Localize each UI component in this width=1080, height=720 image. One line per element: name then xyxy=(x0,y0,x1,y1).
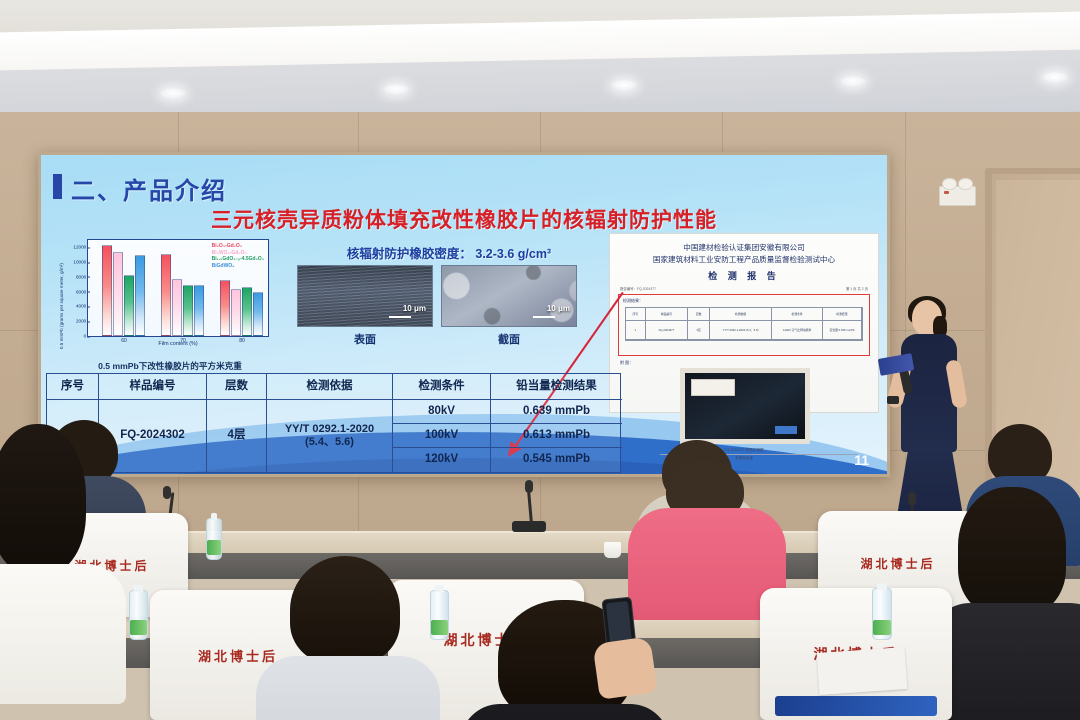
table-header-cell: 检测条件 xyxy=(393,374,491,400)
chart-y-tick: 6000 xyxy=(76,289,86,294)
chart-legend: Bi₂O₃-Gd₂O₃ Bi₂WO₆-Gd₂O₃ Bi₁.₅GdO₃₋ₓ-4.5… xyxy=(212,243,264,269)
micrograph-label-cross-section: 截面 xyxy=(441,331,577,347)
downlight-icon xyxy=(160,88,186,99)
report-th: 层数 xyxy=(688,308,709,321)
person-body xyxy=(0,564,126,704)
heading-accent-bar xyxy=(53,174,62,199)
bar-s3-60 xyxy=(124,275,134,336)
bar-group-60 xyxy=(102,245,145,336)
bar-s4-70 xyxy=(194,285,204,336)
scale-bar-label: 10 μm xyxy=(547,304,570,313)
legend-item-3: Bi₁.₅GdO₃₋ₓ-4.5Gd₂O₃ xyxy=(212,256,264,263)
chart-y-tick: 10000 xyxy=(73,260,86,265)
slide-page-number: 11 xyxy=(854,452,869,468)
documents xyxy=(817,647,908,695)
legend-item-4: BiGdWO₆ xyxy=(212,263,264,270)
desk-microphone-head xyxy=(525,480,533,493)
chart-y-tick: 0 xyxy=(84,334,87,339)
table-header-cell: 样品编号 xyxy=(99,374,207,400)
person-body xyxy=(930,603,1080,720)
report-note-label: 附 图： xyxy=(620,360,633,366)
downlight-icon xyxy=(1042,72,1068,83)
report-highlight-box: 检测结果： 序号 样品编号 层数 检测依据 检测条件 检测结果 1 FQ-202… xyxy=(618,294,870,356)
slide-canvas: 二、产品介绍 三元核壳异质粉体填充改性橡胶片的核辐射防护性能 0.5 mmPb … xyxy=(41,155,887,474)
bar-group-70 xyxy=(161,254,204,336)
bar-s4-80 xyxy=(253,292,263,336)
table-header-cell: 序号 xyxy=(47,374,99,400)
table-cell-condition: 120kV xyxy=(393,448,491,472)
table-cell-result: 0.639 mmPb xyxy=(491,400,622,424)
projection-screen: 二、产品介绍 三元核壳异质粉体填充改性橡胶片的核辐射防护性能 0.5 mmPb … xyxy=(38,152,890,477)
downlight-icon xyxy=(611,80,637,91)
bar-group-80 xyxy=(220,280,263,336)
micrograph-surface: 10 μm xyxy=(297,265,433,327)
report-result-table: 序号 样品编号 层数 检测依据 检测条件 检测结果 1 FQ-2024377 4… xyxy=(625,307,863,341)
report-th: 样品编号 xyxy=(646,308,689,321)
chart-y-tick: 12000 xyxy=(73,245,86,250)
report-org-line-2: 国家建筑材料工业安防工程产品质量监督检验测试中心 xyxy=(610,254,878,265)
report-meta-right: 第 1 页 共 2 页 xyxy=(846,286,868,291)
report-th: 检测条件 xyxy=(772,308,823,321)
raised-hand xyxy=(592,636,657,700)
scale-bar-icon xyxy=(533,316,555,318)
person-head xyxy=(958,487,1066,615)
report-photo-tag xyxy=(691,379,735,396)
report-title: 检 测 报 告 xyxy=(610,269,878,282)
report-photo-marker xyxy=(775,426,797,434)
report-th: 检测依据 xyxy=(710,308,772,321)
bar-s2-70 xyxy=(172,279,182,336)
bar-s2-80 xyxy=(231,289,241,336)
downlight-icon xyxy=(840,76,866,87)
emergency-light-icon xyxy=(939,186,976,206)
chair-banner xyxy=(775,696,936,716)
report-section-label: 检测结果： xyxy=(623,298,643,304)
bar-s4-60 xyxy=(135,255,145,336)
chart-x-axis-label: Film content (%) xyxy=(87,341,269,347)
chair-label: 湖北博士后 xyxy=(818,555,978,572)
bar-s1-70 xyxy=(161,254,171,336)
presenter-clicker xyxy=(887,396,899,404)
bar-s1-60 xyxy=(102,245,112,336)
bar-s1-80 xyxy=(220,280,230,336)
table-header-cell: 检测依据 xyxy=(267,374,393,400)
bar-s3-80 xyxy=(242,287,252,336)
person-body xyxy=(460,704,670,720)
water-bottle xyxy=(206,518,222,560)
micrograph-cross-section: 10 μm xyxy=(441,265,577,327)
report-org-line-1: 中国建材检验认证集团安徽有限公司 xyxy=(610,242,878,253)
report-sample-photo xyxy=(680,368,810,444)
desk-microphone-head xyxy=(908,492,916,505)
water-bottle xyxy=(430,590,449,640)
slide-section-heading: 二、产品介绍 xyxy=(71,171,227,206)
bar-s2-60 xyxy=(113,252,123,336)
chart-y-axis-label: 0.5 mmPb (grams per square meter, g/m²) xyxy=(48,241,62,353)
table-header-cell: 层数 xyxy=(207,374,267,400)
water-bottle xyxy=(129,590,148,640)
slide-main-title: 三元核壳异质粉体填充改性橡胶片的核辐射防护性能 xyxy=(41,204,887,234)
legend-item-2: Bi₂WO₆-Gd₂O₃ xyxy=(212,250,264,257)
report-td: 铅当量 0.545 mmPb xyxy=(823,321,862,340)
chart-caption: 0.5 mmPb下改性橡胶片的平方米克重 xyxy=(47,360,293,372)
table-cell-layers: 4层 xyxy=(207,400,267,472)
report-td: 120kV 空气比释动能率 xyxy=(772,321,823,340)
report-td: 4层 xyxy=(688,321,709,340)
report-td: YY/T 0292.1-2020 (5.4、5.6) xyxy=(710,321,772,340)
table-cell-condition: 100kV xyxy=(393,424,491,448)
report-photo-caption-2: 本报告结束 xyxy=(610,456,878,461)
water-bottle xyxy=(872,588,892,640)
scale-bar-label: 10 μm xyxy=(403,304,426,313)
report-td: 1 xyxy=(626,321,646,340)
report-th: 检测结果 xyxy=(823,308,862,321)
chart-y-tick: 8000 xyxy=(76,274,86,279)
legend-item-1: Bi₂O₃-Gd₂O₃ xyxy=(212,243,264,250)
chart-y-tick: 2000 xyxy=(76,319,86,324)
bar-s3-70 xyxy=(183,285,193,336)
report-td: FQ-2024377 xyxy=(646,321,689,340)
downlight-icon xyxy=(383,84,409,95)
scale-bar-icon xyxy=(389,316,411,318)
table-cell-standard: YY/T 0292.1-2020 (5.4、5.6) xyxy=(267,400,393,472)
report-th: 序号 xyxy=(626,308,646,321)
table-header-cell: 铅当量检测结果 xyxy=(491,374,622,400)
conference-room-scene: 二、产品介绍 三元核壳异质粉体填充改性橡胶片的核辐射防护性能 0.5 mmPb … xyxy=(0,0,1080,720)
paper-cup xyxy=(604,542,621,558)
density-text: 核辐射防护橡胶密度： 3.2-3.6 g/cm³ xyxy=(299,243,599,262)
test-report-document: 中国建材检验认证集团安徽有限公司 国家建筑材料工业安防工程产品质量监督检验测试中… xyxy=(609,233,879,413)
chart-y-tick: 4000 xyxy=(76,304,86,309)
presenter xyxy=(893,300,971,545)
person-body xyxy=(256,656,440,720)
bar-chart: 0.5 mmPb (grams per square meter, g/m²) … xyxy=(49,237,279,359)
chart-plot-area: 12000 10000 8000 6000 4000 2000 0 xyxy=(87,239,269,337)
report-meta-left: 报告编号：FQ-2024377 xyxy=(620,286,656,291)
micrograph-label-surface: 表面 xyxy=(297,331,433,347)
person-head xyxy=(0,424,86,574)
table-cell-result: 0.545 mmPb xyxy=(491,448,622,472)
lead-equivalent-results-table: 序号 样品编号 层数 检测依据 检测条件 铅当量检测结果 FQ-2024302 … xyxy=(46,373,621,473)
table-cell-condition: 80kV xyxy=(393,400,491,424)
report-photo-caption-1: FQ-2024377 样品实物图 xyxy=(610,448,878,453)
desk-microphone-head xyxy=(163,486,171,499)
table-cell-result: 0.613 mmPb xyxy=(491,424,622,448)
